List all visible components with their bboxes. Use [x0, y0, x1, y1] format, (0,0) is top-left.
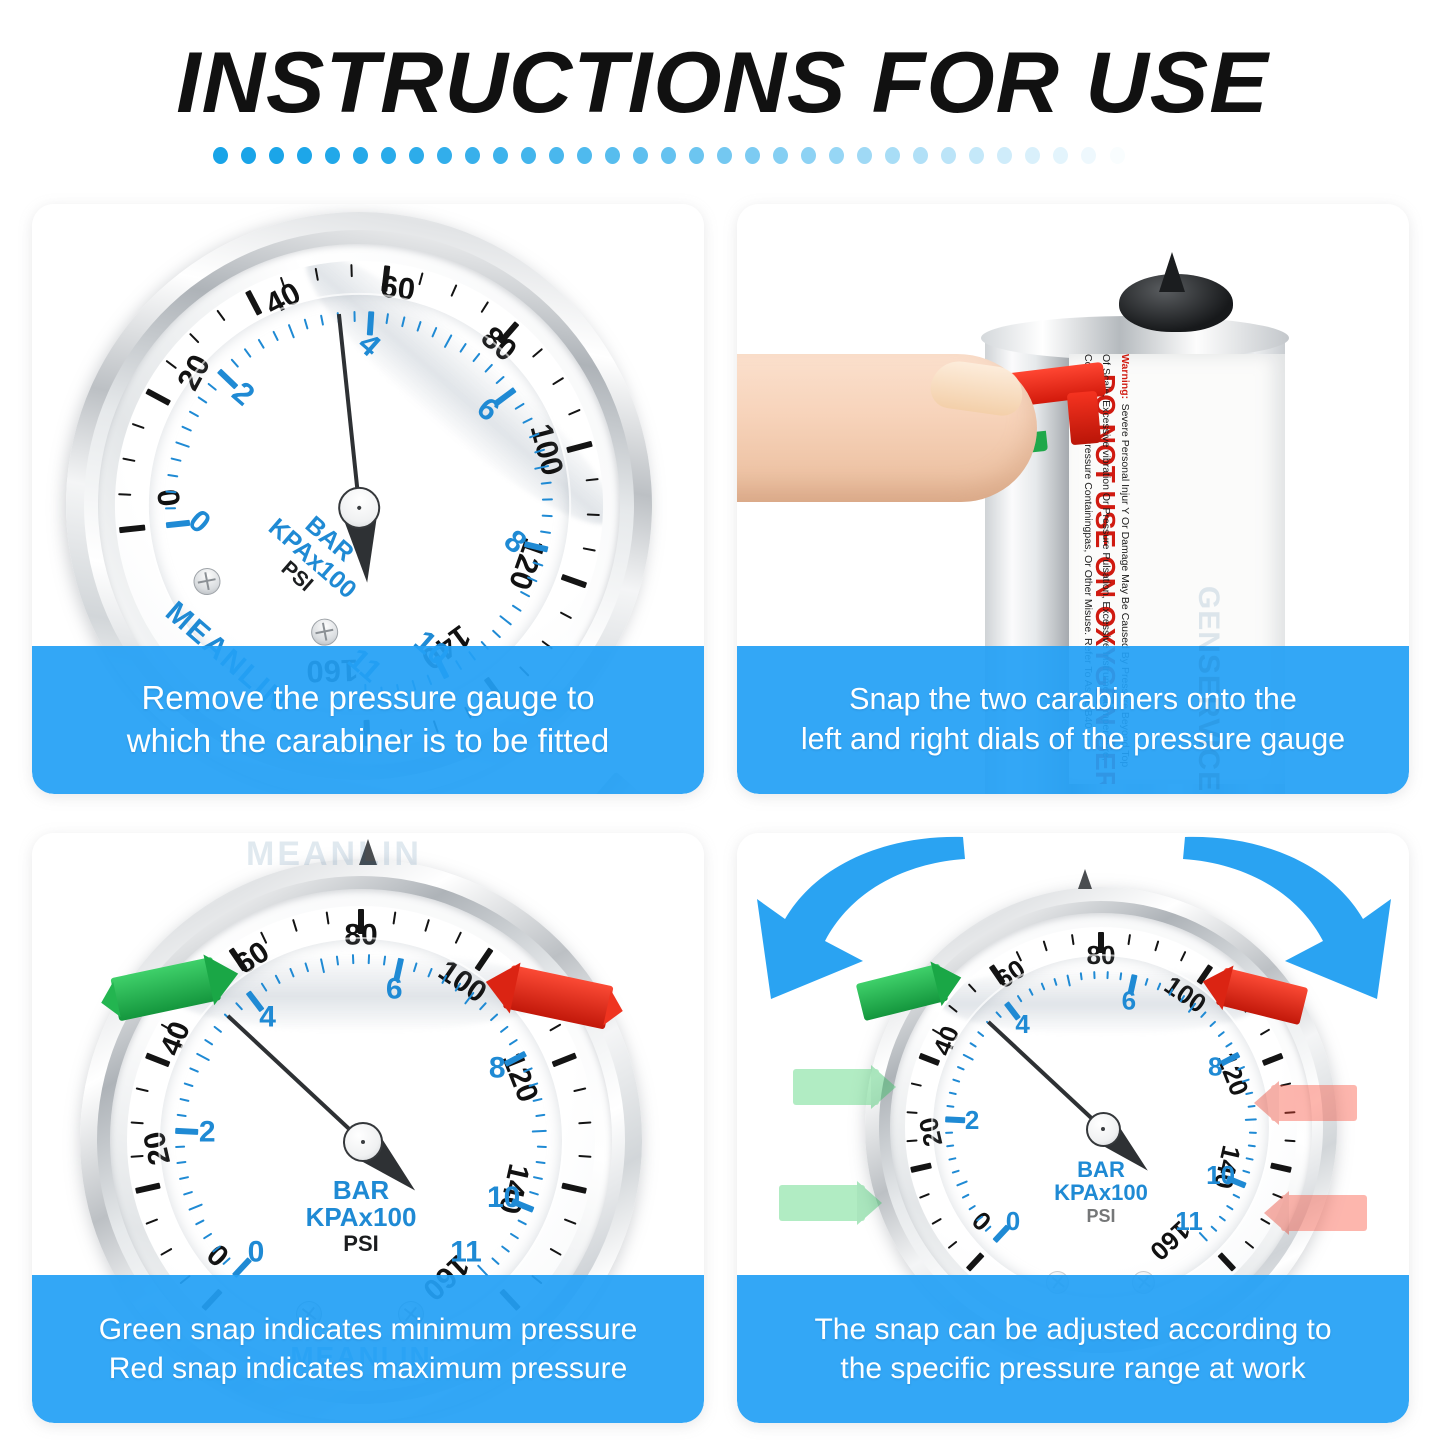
dial-unit-psi: PSI [1054, 1207, 1148, 1226]
hand-index-finger [737, 354, 1055, 504]
red-ghost-body-2 [1281, 1195, 1367, 1231]
gauge-top-nipple [1078, 869, 1092, 889]
decorative-dot [1110, 147, 1125, 164]
decorative-dot [801, 147, 816, 164]
page-title: INSTRUCTIONS FOR USE [0, 34, 1445, 133]
scale-label: 6 [386, 973, 403, 1007]
scale-label: 20 [138, 1128, 179, 1168]
red-carabiner-leg-right [1067, 391, 1101, 445]
decorative-dot [633, 147, 648, 164]
needle-tail [227, 1014, 366, 1144]
instruction-panel-grid: 020406080100120140160 024681011 BAR KPAx… [0, 196, 1445, 1441]
decorative-dot [297, 147, 312, 164]
decorative-dot [409, 147, 424, 164]
scale-label: 10 [487, 1181, 520, 1215]
decorative-dot [661, 147, 676, 164]
red-snap-ghost-2 [1257, 1183, 1381, 1241]
scale-label: 20 [170, 349, 218, 396]
decorative-dot [465, 147, 480, 164]
decorative-dot [885, 147, 900, 164]
decorative-dot [521, 147, 536, 164]
dial-unit-kpa: KPAx100 [1054, 1182, 1148, 1205]
decorative-dot [941, 147, 956, 164]
scale-label: 11 [1175, 1206, 1203, 1237]
scale-label: 8 [489, 1051, 506, 1085]
needle-hub [343, 1122, 383, 1162]
vent-plug-tip [1159, 252, 1185, 292]
panel-4-caption-line-2: the specific pressure range at work [840, 1349, 1305, 1388]
panel-2-caption-line-2: left and right dials of the pressure gau… [801, 720, 1345, 760]
decorative-dot [773, 147, 788, 164]
dial-unit-psi: PSI [306, 1233, 417, 1256]
page-header: INSTRUCTIONS FOR USE [0, 0, 1445, 190]
decorative-dot [829, 147, 844, 164]
green-snap-body [110, 957, 221, 1022]
decorative-dot [577, 147, 592, 164]
gauge-top-nipple [359, 839, 377, 865]
needle-hub [1086, 1112, 1121, 1147]
panel-3-caption-line-1: Green snap indicates minimum pressure [99, 1310, 638, 1349]
decorative-dot [605, 147, 620, 164]
scale-label: 0 [248, 1236, 265, 1270]
green-ghost-tip-2 [857, 1181, 882, 1225]
decorative-dot [745, 147, 760, 164]
scale-label: 60 [379, 268, 417, 308]
instruction-panel-2: DO NOT USE ON OXYGEN SERVICE Warning: Se… [737, 204, 1409, 794]
panel-1-caption: Remove the pressure gauge to which the c… [32, 646, 704, 794]
green-ghost-body-2 [779, 1185, 865, 1221]
scale-label: 11 [450, 1236, 482, 1270]
scale-label: 0 [201, 1236, 236, 1272]
instruction-panel-1: 020406080100120140160 024681011 BAR KPAx… [32, 204, 704, 794]
decorative-dot [1053, 147, 1068, 164]
decorative-dot [997, 147, 1012, 164]
decorative-dot-row [213, 144, 1153, 166]
decorative-dot [325, 147, 340, 164]
panel-1-caption-line-2: which the carabiner is to be fitted [127, 720, 609, 763]
scale-label: 10 [1206, 1160, 1235, 1191]
scale-label: 40 [927, 1022, 966, 1060]
red-ghost-tip-1 [1254, 1081, 1279, 1125]
panel-3-caption: Green snap indicates minimum pressure Re… [32, 1275, 704, 1423]
decorative-dot [969, 147, 984, 164]
panel-2-caption: Snap the two carabiners onto the left an… [737, 646, 1409, 794]
dial-unit-kpa: KPAx100 [306, 1204, 417, 1231]
decorative-dot [493, 147, 508, 164]
scale-label: 2 [199, 1115, 216, 1149]
decorative-dot [1025, 147, 1040, 164]
decorative-dot [549, 147, 564, 164]
dial-screw-left [188, 562, 226, 600]
decorative-dot [353, 147, 368, 164]
scale-label: 2 [965, 1105, 979, 1136]
warning-heading: Warning: [1119, 354, 1131, 399]
scale-label: 80 [344, 919, 377, 953]
red-snap-ghost-1 [1247, 1073, 1371, 1131]
instruction-panel-4: 020406080100120140160 024681011 BAR KPAx… [737, 833, 1409, 1423]
green-ghost-tip-1 [871, 1065, 896, 1109]
panel-4-caption-line-1: The snap can be adjusted according to [814, 1310, 1331, 1349]
scale-label: 8 [1208, 1051, 1222, 1082]
decorative-dot [689, 147, 704, 164]
decorative-dot [213, 147, 228, 164]
decorative-dot [437, 147, 452, 164]
scale-label: 20 [913, 1114, 950, 1149]
green-ghost-body-1 [793, 1069, 879, 1105]
decorative-dot [913, 147, 928, 164]
panel-3-caption-line-2: Red snap indicates maximum pressure [109, 1349, 628, 1388]
decorative-dot [381, 147, 396, 164]
green-snap-ghost-1 [779, 1057, 903, 1115]
red-snap-body [503, 965, 614, 1030]
needle-tail [987, 1021, 1105, 1131]
red-ghost-body-1 [1271, 1085, 1357, 1121]
decorative-dot [1081, 147, 1096, 164]
red-ghost-tip-2 [1264, 1191, 1289, 1235]
decorative-dot [857, 147, 872, 164]
decorative-dot [269, 147, 284, 164]
scale-label: 40 [259, 275, 306, 323]
scale-label: 4 [259, 1001, 276, 1035]
panel-1-caption-line-1: Remove the pressure gauge to [141, 677, 594, 720]
panel-2-caption-line-1: Snap the two carabiners onto the [849, 680, 1297, 720]
decorative-dot [717, 147, 732, 164]
scale-label: 6 [1122, 985, 1136, 1016]
instruction-panel-3: 020406080100120140160 024681011 BAR KPAx… [32, 833, 704, 1423]
scale-label: 80 [1087, 940, 1116, 971]
decorative-dot [241, 147, 256, 164]
panel-4-caption: The snap can be adjusted according to th… [737, 1275, 1409, 1423]
scale-label: 4 [1015, 1009, 1029, 1040]
scale-label: 0 [181, 503, 218, 541]
scale-label: 0 [1006, 1206, 1020, 1237]
green-snap-ghost-2 [765, 1173, 889, 1231]
